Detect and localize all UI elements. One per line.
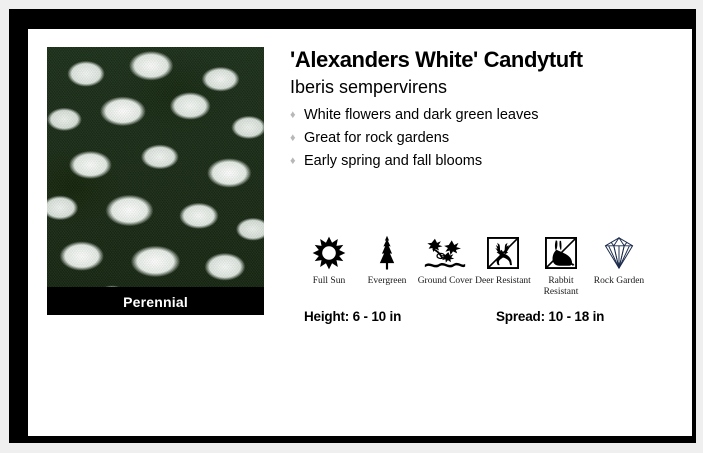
list-item: ♦ Great for rock gardens	[290, 127, 690, 150]
feature-text: Great for rock gardens	[304, 127, 449, 150]
plant-type-caption: Perennial	[47, 294, 264, 310]
photo-texture-overlay	[47, 47, 264, 315]
deer-resistant-icon	[481, 233, 525, 273]
diamond-bullet-icon: ♦	[290, 150, 304, 173]
feature-text: White flowers and dark green leaves	[304, 104, 539, 127]
feature-text: Early spring and fall blooms	[304, 150, 482, 173]
attribute-label: Full Sun	[313, 276, 345, 287]
plant-common-name-title: 'Alexanders White' Candytuft	[290, 47, 690, 73]
full-sun-icon	[307, 233, 351, 273]
plant-height-value: Height: 6 - 10 in	[304, 309, 496, 324]
attribute-ground-cover: Ground Cover	[416, 233, 474, 287]
diamond-bullet-icon: ♦	[290, 127, 304, 150]
ground-cover-icon	[423, 233, 467, 273]
attribute-rock-garden: Rock Garden	[590, 233, 648, 287]
plant-measurements: Height: 6 - 10 in Spread: 10 - 18 in	[304, 309, 694, 324]
plant-photo-block: Perennial	[47, 47, 264, 315]
attribute-label: Ground Cover	[418, 276, 473, 287]
attribute-label: Rock Garden	[594, 276, 644, 287]
rock-garden-diamond-icon	[597, 233, 641, 273]
list-item: ♦ White flowers and dark green leaves	[290, 104, 690, 127]
plant-info-card: Perennial 'Alexanders White' Candytuft I…	[28, 29, 692, 436]
attribute-deer-resistant: Deer Resistant	[474, 233, 532, 287]
plant-feature-list: ♦ White flowers and dark green leaves ♦ …	[290, 104, 690, 173]
plant-botanical-name: Iberis sempervirens	[290, 76, 690, 98]
rabbit-resistant-icon	[539, 233, 583, 273]
attribute-evergreen: Evergreen	[358, 233, 416, 287]
plant-spread-value: Spread: 10 - 18 in	[496, 309, 604, 324]
list-item: ♦ Early spring and fall blooms	[290, 150, 690, 173]
attribute-label: Rabbit Resistant	[533, 276, 589, 298]
attribute-label: Deer Resistant	[475, 276, 531, 287]
attribute-label: Evergreen	[368, 276, 407, 287]
attribute-rabbit-resistant: Rabbit Resistant	[532, 233, 590, 298]
plant-tag-page: Perennial 'Alexanders White' Candytuft I…	[0, 0, 703, 453]
diamond-bullet-icon: ♦	[290, 104, 304, 127]
attribute-full-sun: Full Sun	[300, 233, 358, 287]
evergreen-tree-icon	[365, 233, 409, 273]
plant-info-text-block: 'Alexanders White' Candytuft Iberis semp…	[290, 47, 690, 173]
plant-photo-candytuft-flowers	[47, 47, 264, 315]
card-outer-frame: Perennial 'Alexanders White' Candytuft I…	[9, 9, 696, 443]
plant-attribute-icon-row: Full Sun Evergreen	[300, 233, 690, 298]
